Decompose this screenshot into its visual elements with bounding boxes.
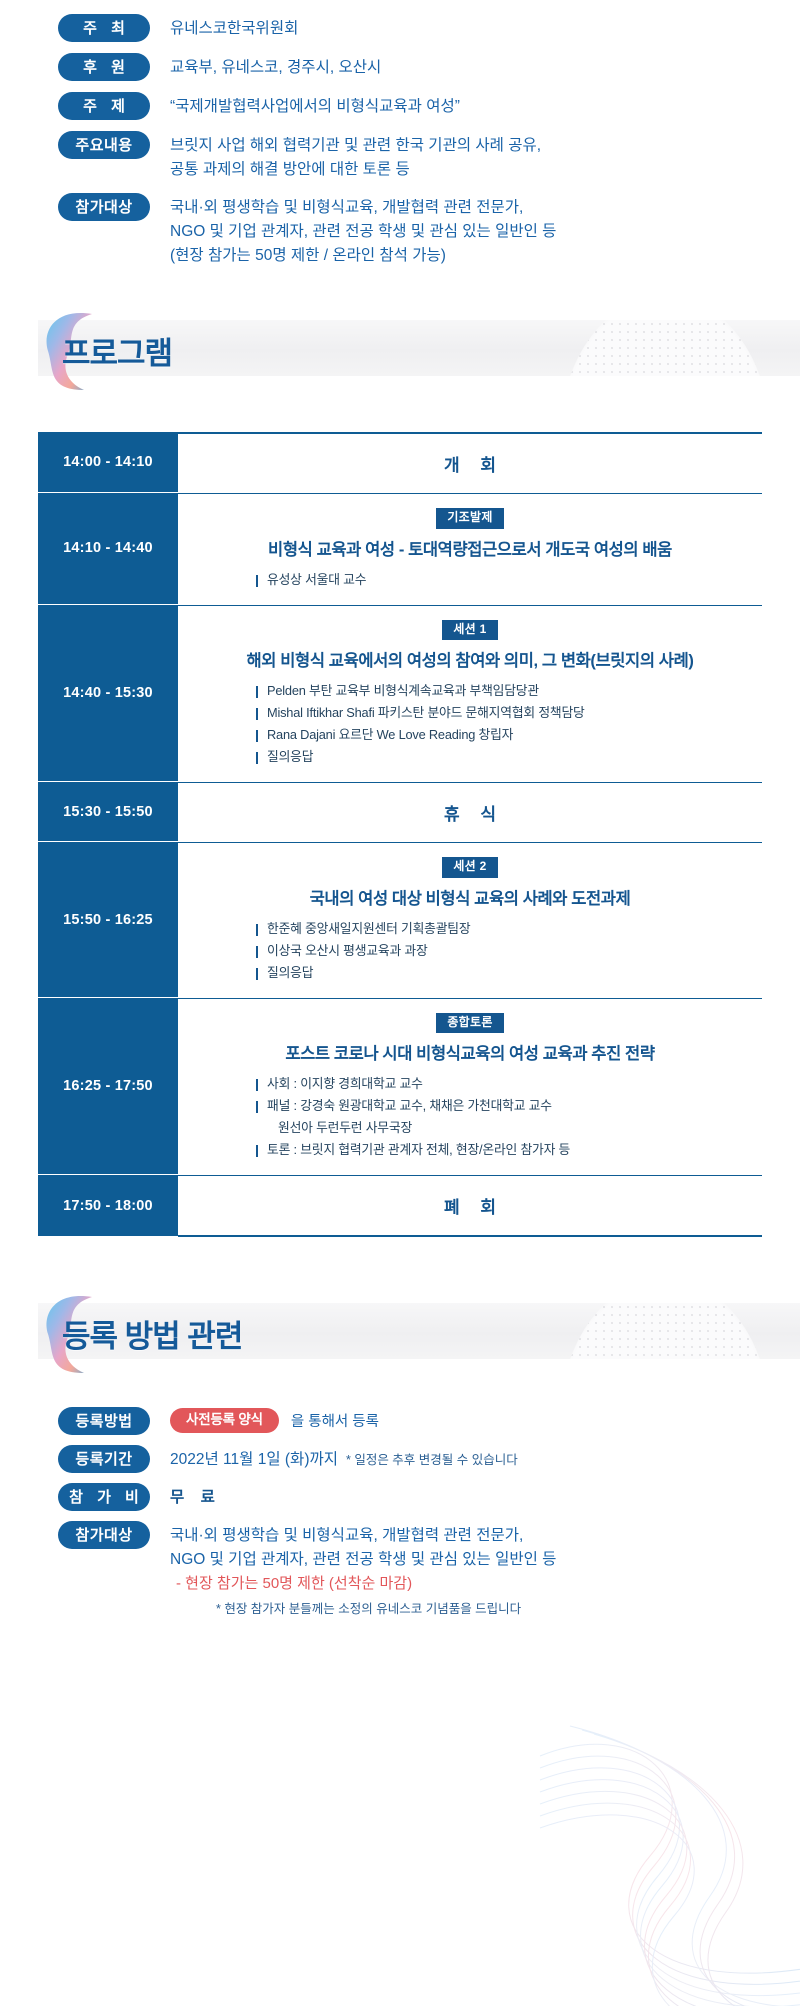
info-value-content: 브릿지 사업 해외 협력기관 및 관련 한국 기관의 사례 공유, 공통 과제의… bbox=[170, 131, 541, 182]
bullet-bar-icon bbox=[256, 1101, 258, 1113]
poster-page: 주 최 유네스코한국위원회 후 원 교육부, 유네스코, 경주시, 오산시 주 … bbox=[0, 0, 800, 2006]
program-content: 폐 회 bbox=[178, 1175, 762, 1237]
program-row: 14:00 - 14:10 개 회 bbox=[38, 432, 762, 493]
program-tag-wrap: 세션 2 bbox=[188, 843, 752, 878]
program-simple-title: 개 회 bbox=[188, 434, 752, 493]
program-content: 휴 식 bbox=[178, 782, 762, 842]
program-row: 17:50 - 18:00 폐 회 bbox=[38, 1175, 762, 1237]
bullet-bar-icon bbox=[256, 946, 258, 958]
info-row-content: 주요내용 브릿지 사업 해외 협력기관 및 관련 한국 기관의 사례 공유, 공… bbox=[0, 131, 800, 182]
registration-audience-footnote: * 현장 참가자 분들께는 소정의 유네스코 기념품을 드립니다 bbox=[170, 1600, 556, 1619]
program-speaker-list: 유성상 서울대 교수 bbox=[256, 569, 752, 591]
info-row-host: 주 최 유네스코한국위원회 bbox=[0, 14, 800, 42]
dot-pattern-decoration bbox=[560, 320, 770, 376]
registration-row-method: 등록방법 사전등록 양식 을 통해서 등록 bbox=[0, 1407, 800, 1435]
registration-method-after-text: 을 통해서 등록 bbox=[291, 1410, 379, 1431]
dot-pattern-decoration bbox=[560, 1303, 770, 1359]
bullet-bar-icon bbox=[256, 575, 258, 587]
preregistration-form-button[interactable]: 사전등록 양식 bbox=[170, 1408, 279, 1433]
info-line: “국제개발협력사업에서의 비형식교육과 여성” bbox=[170, 95, 460, 119]
info-value-host: 유네스코한국위원회 bbox=[170, 14, 298, 41]
registration-section-header: 등록 방법 관련 bbox=[0, 1295, 800, 1367]
list-item-text: 유성상 서울대 교수 bbox=[267, 569, 366, 591]
registration-period-note: * 일정은 추후 변경될 수 있습니다 bbox=[346, 1453, 518, 1467]
registration-period-line: 2022년 11월 1일 (화)까지* 일정은 추후 변경될 수 있습니다 bbox=[170, 1448, 518, 1472]
program-table: 14:00 - 14:10 개 회 14:10 - 14:40 기조발제 비형식… bbox=[38, 432, 762, 1237]
bullet-bar-icon bbox=[256, 1145, 258, 1157]
info-line: 교육부, 유네스코, 경주시, 오산시 bbox=[170, 56, 381, 80]
registration-audience-warning: - 현장 참가는 50명 제한 (선착순 마감) bbox=[170, 1572, 556, 1595]
registration-audience-line: 국내·외 평생학습 및 비형식교육, 개발협력 관련 전문가, bbox=[170, 1524, 556, 1548]
program-speaker-list: 한준혜 중앙새일지원센터 기획총괄팀장 이상국 오산시 평생교육과 과장 질의응… bbox=[256, 918, 752, 984]
program-title: 비형식 교육과 여성 - 토대역량접근으로서 개도국 여성의 배움 bbox=[188, 536, 752, 560]
program-tag: 기조발제 bbox=[436, 508, 503, 529]
info-label-sponsor: 후 원 bbox=[58, 53, 150, 81]
program-title: 포스트 코로나 시대 비형식교육의 여성 교육과 추진 전략 bbox=[188, 1040, 752, 1064]
registration-period-date: 2022년 11월 1일 (화)까지 bbox=[170, 1451, 338, 1468]
list-item: Pelden 부탄 교육부 비형식계속교육과 부책임담당관 bbox=[256, 680, 752, 702]
program-content: 기조발제 비형식 교육과 여성 - 토대역량접근으로서 개도국 여성의 배움 유… bbox=[178, 493, 762, 605]
program-tag: 세션 2 bbox=[442, 857, 497, 878]
program-content: 개 회 bbox=[178, 432, 762, 493]
list-item: 유성상 서울대 교수 bbox=[256, 569, 752, 591]
list-item-text: Pelden 부탄 교육부 비형식계속교육과 부책임담당관 bbox=[267, 680, 539, 702]
program-simple-title: 폐 회 bbox=[188, 1176, 752, 1235]
overview-info-block: 주 최 유네스코한국위원회 후 원 교육부, 유네스코, 경주시, 오산시 주 … bbox=[0, 0, 800, 268]
registration-fee-text: 무 료 bbox=[170, 1486, 221, 1510]
list-item: Mishal Iftikhar Shafi 파키스탄 분야드 문해지역협회 정책… bbox=[256, 702, 752, 724]
program-content: 종합토론 포스트 코로나 시대 비형식교육의 여성 교육과 추진 전략 사회 :… bbox=[178, 998, 762, 1176]
program-time: 17:50 - 18:00 bbox=[38, 1175, 178, 1237]
list-item-text: 이상국 오산시 평생교육과 과장 bbox=[267, 940, 428, 962]
info-line: 브릿지 사업 해외 협력기관 및 관련 한국 기관의 사례 공유, bbox=[170, 134, 541, 158]
info-value-theme: “국제개발협력사업에서의 비형식교육과 여성” bbox=[170, 92, 460, 119]
program-tag: 세션 1 bbox=[442, 620, 497, 641]
bullet-bar-icon bbox=[256, 968, 258, 980]
list-item: 질의응답 bbox=[256, 746, 752, 768]
program-time: 14:00 - 14:10 bbox=[38, 432, 178, 493]
list-item: 패널 : 강경숙 원광대학교 교수, 채채은 가천대학교 교수 bbox=[256, 1095, 752, 1117]
list-item: 사회 : 이지향 경희대학교 교수 bbox=[256, 1073, 752, 1095]
list-item-text: Mishal Iftikhar Shafi 파키스탄 분야드 문해지역협회 정책… bbox=[267, 702, 585, 724]
program-row: 15:30 - 15:50 휴 식 bbox=[38, 782, 762, 842]
program-time: 14:40 - 15:30 bbox=[38, 605, 178, 783]
program-time: 15:50 - 16:25 bbox=[38, 842, 178, 998]
program-tag-wrap: 세션 1 bbox=[188, 606, 752, 641]
program-time: 15:30 - 15:50 bbox=[38, 782, 178, 842]
list-item: 질의응답 bbox=[256, 962, 752, 984]
bullet-bar-icon bbox=[256, 1079, 258, 1091]
list-item: Rana Dajani 요르단 We Love Reading 창립자 bbox=[256, 724, 752, 746]
program-section-title: 프로그램 bbox=[62, 328, 172, 373]
registration-label-method: 등록방법 bbox=[58, 1407, 150, 1435]
registration-row-fee: 참 가 비 무 료 bbox=[0, 1483, 800, 1511]
info-row-audience: 참가대상 국내·외 평생학습 및 비형식교육, 개발협력 관련 전문가, NGO… bbox=[0, 193, 800, 268]
list-item: 토론 : 브릿지 협력기관 관계자 전체, 현장/온라인 참가자 등 bbox=[256, 1139, 752, 1161]
info-label-host: 주 최 bbox=[58, 14, 150, 42]
list-item-text: Rana Dajani 요르단 We Love Reading 창립자 bbox=[267, 724, 513, 746]
program-row: 14:10 - 14:40 기조발제 비형식 교육과 여성 - 토대역량접근으로… bbox=[38, 493, 762, 605]
program-speaker-list: Pelden 부탄 교육부 비형식계속교육과 부책임담당관 Mishal Ift… bbox=[256, 680, 752, 768]
registration-audience-line: NGO 및 기업 관계자, 관련 전공 학생 및 관심 있는 일반인 등 bbox=[170, 1548, 556, 1572]
list-item-text: 토론 : 브릿지 협력기관 관계자 전체, 현장/온라인 참가자 등 bbox=[267, 1139, 570, 1161]
program-tag-wrap: 기조발제 bbox=[188, 494, 752, 529]
list-item-text: 질의응답 bbox=[267, 962, 313, 984]
list-item: 한준혜 중앙새일지원센터 기획총괄팀장 bbox=[256, 918, 752, 940]
list-item: 이상국 오산시 평생교육과 과장 bbox=[256, 940, 752, 962]
registration-row-period: 등록기간 2022년 11월 1일 (화)까지* 일정은 추후 변경될 수 있습… bbox=[0, 1445, 800, 1473]
registration-label-period: 등록기간 bbox=[58, 1445, 150, 1473]
bullet-bar-icon bbox=[256, 730, 258, 742]
program-section-header: 프로그램 bbox=[0, 312, 800, 384]
info-line: (현장 참가는 50명 제한 / 온라인 참석 가능) bbox=[170, 244, 556, 268]
bullet-bar-icon bbox=[256, 924, 258, 936]
registration-section-title: 등록 방법 관련 bbox=[62, 1311, 242, 1356]
info-label-audience: 참가대상 bbox=[58, 193, 150, 221]
list-item-text: 질의응답 bbox=[267, 746, 313, 768]
list-item-text: 원선아 두런두런 사무국장 bbox=[278, 1117, 412, 1139]
list-item-text: 한준혜 중앙새일지원센터 기획총괄팀장 bbox=[267, 918, 470, 940]
info-line: NGO 및 기업 관계자, 관련 전공 학생 및 관심 있는 일반인 등 bbox=[170, 220, 556, 244]
program-title: 국내의 여성 대상 비형식 교육의 사례와 도전과제 bbox=[188, 885, 752, 909]
bullet-bar-icon bbox=[256, 752, 258, 764]
program-row: 14:40 - 15:30 세션 1 해외 비형식 교육에서의 여성의 참여와 … bbox=[38, 605, 762, 783]
registration-method-value: 사전등록 양식 을 통해서 등록 bbox=[170, 1407, 379, 1433]
program-content: 세션 1 해외 비형식 교육에서의 여성의 참여와 의미, 그 변화(브릿지의 … bbox=[178, 605, 762, 783]
program-title: 해외 비형식 교육에서의 여성의 참여와 의미, 그 변화(브릿지의 사례) bbox=[188, 647, 752, 671]
info-line: 공통 과제의 해결 방안에 대한 토론 등 bbox=[170, 158, 541, 182]
registration-audience-value: 국내·외 평생학습 및 비형식교육, 개발협력 관련 전문가, NGO 및 기업… bbox=[170, 1521, 556, 1619]
registration-fee-value: 무 료 bbox=[170, 1483, 221, 1510]
program-tag-wrap: 종합토론 bbox=[188, 999, 752, 1034]
program-content: 세션 2 국내의 여성 대상 비형식 교육의 사례와 도전과제 한준혜 중앙새일… bbox=[178, 842, 762, 998]
bullet-bar-icon bbox=[256, 686, 258, 698]
bullet-bar-icon bbox=[256, 708, 258, 720]
info-row-sponsor: 후 원 교육부, 유네스코, 경주시, 오산시 bbox=[0, 53, 800, 81]
info-label-content: 주요내용 bbox=[58, 131, 150, 159]
program-row: 15:50 - 16:25 세션 2 국내의 여성 대상 비형식 교육의 사례와… bbox=[38, 842, 762, 998]
list-item-text: 사회 : 이지향 경희대학교 교수 bbox=[267, 1073, 423, 1095]
info-label-theme: 주 제 bbox=[58, 92, 150, 120]
registration-label-audience: 참가대상 bbox=[58, 1521, 150, 1549]
list-item: 원선아 두런두런 사무국장 bbox=[256, 1117, 752, 1139]
list-item-text: 패널 : 강경숙 원광대학교 교수, 채채은 가천대학교 교수 bbox=[267, 1095, 552, 1117]
registration-row-audience: 참가대상 국내·외 평생학습 및 비형식교육, 개발협력 관련 전문가, NGO… bbox=[0, 1521, 800, 1619]
program-time: 16:25 - 17:50 bbox=[38, 998, 178, 1176]
program-speaker-list: 사회 : 이지향 경희대학교 교수 패널 : 강경숙 원광대학교 교수, 채채은… bbox=[256, 1073, 752, 1161]
registration-label-fee: 참 가 비 bbox=[58, 1483, 150, 1511]
program-time: 14:10 - 14:40 bbox=[38, 493, 178, 605]
info-value-audience: 국내·외 평생학습 및 비형식교육, 개발협력 관련 전문가, NGO 및 기업… bbox=[170, 193, 556, 268]
decorative-ribbon-background bbox=[530, 1716, 800, 2006]
program-tag: 종합토론 bbox=[436, 1013, 503, 1034]
info-line: 유네스코한국위원회 bbox=[170, 17, 298, 41]
info-row-theme: 주 제 “국제개발협력사업에서의 비형식교육과 여성” bbox=[0, 92, 800, 120]
program-simple-title: 휴 식 bbox=[188, 783, 752, 842]
info-line: 국내·외 평생학습 및 비형식교육, 개발협력 관련 전문가, bbox=[170, 196, 556, 220]
info-value-sponsor: 교육부, 유네스코, 경주시, 오산시 bbox=[170, 53, 381, 80]
program-row: 16:25 - 17:50 종합토론 포스트 코로나 시대 비형식교육의 여성 … bbox=[38, 998, 762, 1176]
registration-info-block: 등록방법 사전등록 양식 을 통해서 등록 등록기간 2022년 11월 1일 … bbox=[0, 1407, 800, 1619]
registration-period-value: 2022년 11월 1일 (화)까지* 일정은 추후 변경될 수 있습니다 bbox=[170, 1445, 518, 1472]
